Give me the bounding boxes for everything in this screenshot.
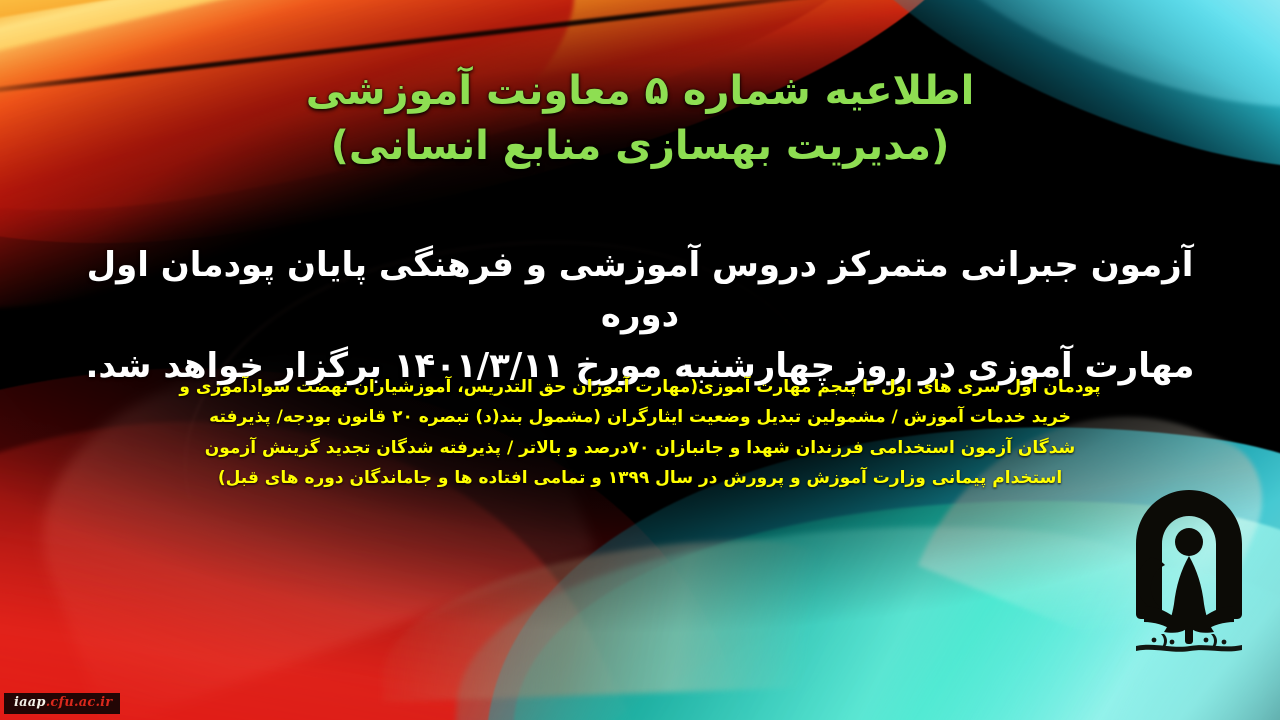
- detail-line-2: خرید خدمات آموزش / مشمولین تبدیل وضعیت ا…: [135, 402, 1145, 432]
- site-url-prefix: iaap: [14, 695, 46, 710]
- announcement-poster: اطلاعیه شماره ۵ معاونت آموزشی (مدیریت به…: [0, 0, 1280, 720]
- lead-line-1: آزمون جبرانی متمرکز دروس آموزشی و فرهنگی…: [65, 240, 1215, 341]
- site-url-suffix: .cfu.ac.ir: [46, 695, 113, 710]
- poster-title: اطلاعیه شماره ۵ معاونت آموزشی (مدیریت به…: [0, 64, 1280, 174]
- detail-line-4: استخدام پیمانی وزارت آموزش و پرورش در سا…: [135, 463, 1145, 493]
- poster-detail-paragraph: پودمان اول سری های اول تا پنجم مهارت آمو…: [135, 372, 1145, 493]
- title-line-2: (مدیریت بهسازی منابع انسانی): [0, 119, 1280, 174]
- site-url[interactable]: iaap.cfu.ac.ir: [4, 693, 120, 714]
- detail-line-1: پودمان اول سری های اول تا پنجم مهارت آمو…: [135, 372, 1145, 402]
- detail-line-3: شدگان آزمون استخدامی فرزندان شهدا و جانب…: [135, 433, 1145, 463]
- university-logo-icon: [1120, 486, 1258, 658]
- poster-lead-paragraph: آزمون جبرانی متمرکز دروس آموزشی و فرهنگی…: [65, 240, 1215, 391]
- title-line-1: اطلاعیه شماره ۵ معاونت آموزشی: [0, 64, 1280, 119]
